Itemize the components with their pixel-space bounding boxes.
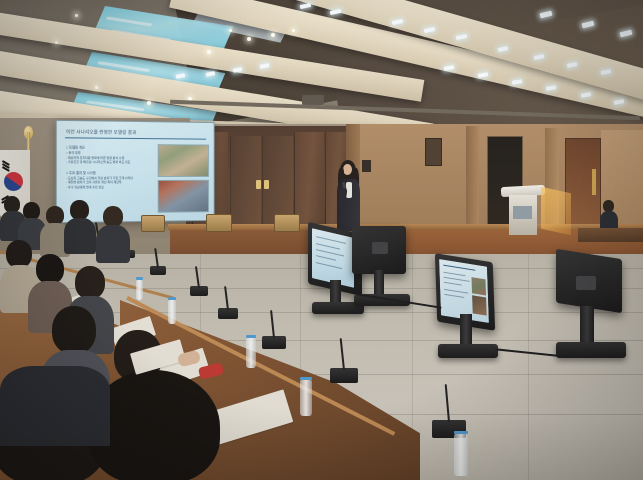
head — [103, 206, 123, 227]
slide-photo-site — [158, 180, 209, 213]
chair[interactable] — [206, 214, 232, 232]
door-handle[interactable] — [256, 180, 261, 189]
head — [75, 266, 105, 299]
ceiling-downlight — [271, 33, 275, 37]
audience-member — [96, 206, 130, 260]
slide-title-rule — [65, 137, 206, 139]
water-bottle[interactable] — [300, 380, 312, 416]
conference-room-photo: 이전 사나리오를 반영한 모델링 결과 □ 모델링 개요 ○ 분석 방법 - 대… — [0, 0, 643, 480]
ceiling-downlight — [75, 14, 78, 17]
torso — [0, 366, 110, 446]
door-handle[interactable] — [592, 169, 596, 195]
slide-photo-aerial — [158, 144, 209, 177]
wall-pilaster — [466, 126, 479, 240]
water-bottle[interactable] — [454, 434, 468, 476]
torso — [64, 218, 96, 254]
side-desk — [578, 228, 643, 242]
slide-body: □ 모델링 개요 ○ 분석 방법 - 대상지역 토지이용 변화에 따른 영향 분… — [66, 142, 159, 189]
ceiling-downlight — [147, 101, 151, 105]
monitor-base — [438, 344, 498, 358]
presenter — [330, 160, 366, 232]
chair[interactable] — [141, 215, 165, 232]
slide-photos — [158, 144, 209, 216]
water-bottle[interactable] — [246, 338, 256, 368]
chair[interactable] — [274, 214, 300, 232]
door-handle[interactable] — [264, 180, 269, 189]
slide-section-heading: □ 모델링 개요 — [66, 145, 159, 151]
monitor-vesa-mount — [576, 276, 596, 290]
lectern-sign — [513, 206, 532, 219]
head — [52, 306, 96, 354]
presenter-face — [343, 164, 352, 175]
monitor-slide-photo — [471, 277, 486, 295]
ceiling-downlight — [292, 29, 295, 32]
ceiling-downlight — [55, 41, 58, 44]
ceiling-downlight — [95, 86, 98, 89]
head — [70, 200, 89, 220]
slide-section-heading: □ 주요 결과 및 시사점 — [66, 170, 159, 175]
monitor-vesa-mount — [372, 242, 388, 254]
water-bottle[interactable] — [136, 280, 143, 300]
water-bottle[interactable] — [168, 300, 176, 324]
ceiling-projector — [302, 95, 324, 105]
monitor-stem — [460, 314, 472, 348]
monitor-base — [556, 342, 626, 358]
ceiling-downlight — [229, 29, 232, 32]
head — [36, 254, 64, 284]
ceiling-downlight — [247, 37, 251, 41]
audience-member-foreground — [0, 348, 110, 438]
wall-speaker — [425, 138, 442, 166]
monitor-stem — [580, 306, 594, 346]
taeguk-symbol — [4, 172, 23, 191]
slide-bullet: - 기상조건 및 배출량 시나리오별 농도 변화 비교 검토 — [66, 160, 159, 165]
torso — [96, 225, 130, 263]
monitor-screen — [312, 228, 354, 288]
slide-title: 이전 사나리오를 반영한 모델링 결과 — [66, 129, 204, 137]
sunlight-patch — [541, 187, 571, 235]
monitor-slide-photo — [472, 295, 487, 315]
ceiling — [0, 0, 643, 132]
ceiling-downlight — [207, 50, 211, 54]
audience-member — [64, 200, 96, 252]
slide-bullet: - 추가 저감대책 연계 추진 필요 — [66, 185, 159, 190]
